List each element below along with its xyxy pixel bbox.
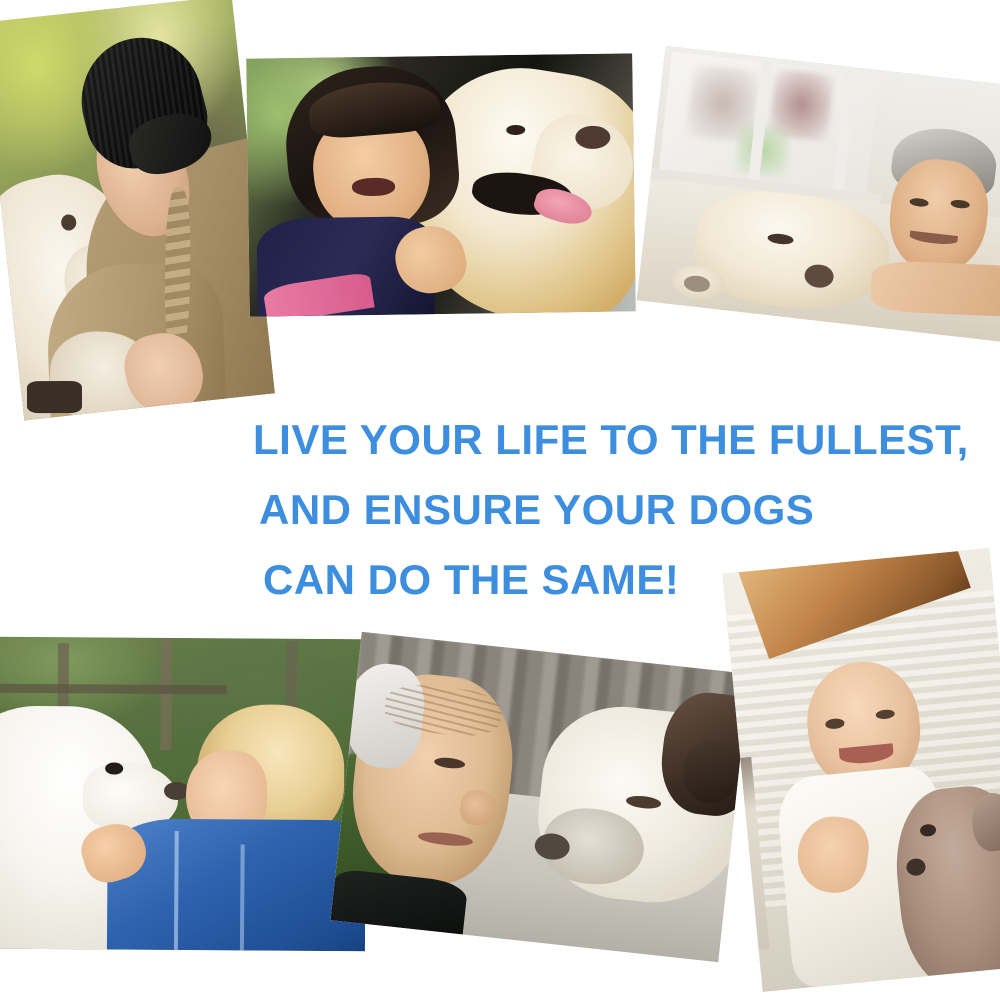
quote-line-1: LIVE YOUR LIFE TO THE FULLEST, <box>253 405 953 475</box>
quote-line-2: AND ENSURE YOUR DOGS <box>253 475 953 545</box>
photo-scene <box>0 637 367 952</box>
jacket-seam <box>173 831 178 951</box>
photo-girl-hugging-retriever: Young girl leaning her cheek against a s… <box>246 53 636 316</box>
photo-woman-kissing-dog: Woman in black knit beanie and tan coat … <box>0 0 275 420</box>
dog-collar <box>27 381 83 413</box>
photo-old-man-with-bulldog: Elderly man face to face on the ground w… <box>330 632 749 962</box>
girl-mouth <box>352 178 395 197</box>
photo-scene <box>637 46 1000 342</box>
fence-rail <box>0 684 227 695</box>
jacket-seam <box>240 844 245 951</box>
photo-scene <box>246 53 636 316</box>
photo-scene <box>722 548 1000 992</box>
toddler-denim-jacket <box>107 818 367 951</box>
poster-canvas: Woman in black knit beanie and tan coat … <box>0 0 1000 1000</box>
retriever-eye <box>506 124 525 135</box>
man-arm <box>870 260 1000 318</box>
photo-scene <box>0 0 275 420</box>
photo-toddler-kissing-dog: Blonde curly-haired toddler in a blue de… <box>0 637 367 952</box>
photo-baby-with-puppy: Smiling baby in a white onesie lying on … <box>722 548 1000 992</box>
photo-scene <box>330 632 749 962</box>
photo-senior-man-with-labrador: Grey-haired senior man resting on a sofa… <box>637 46 1000 342</box>
